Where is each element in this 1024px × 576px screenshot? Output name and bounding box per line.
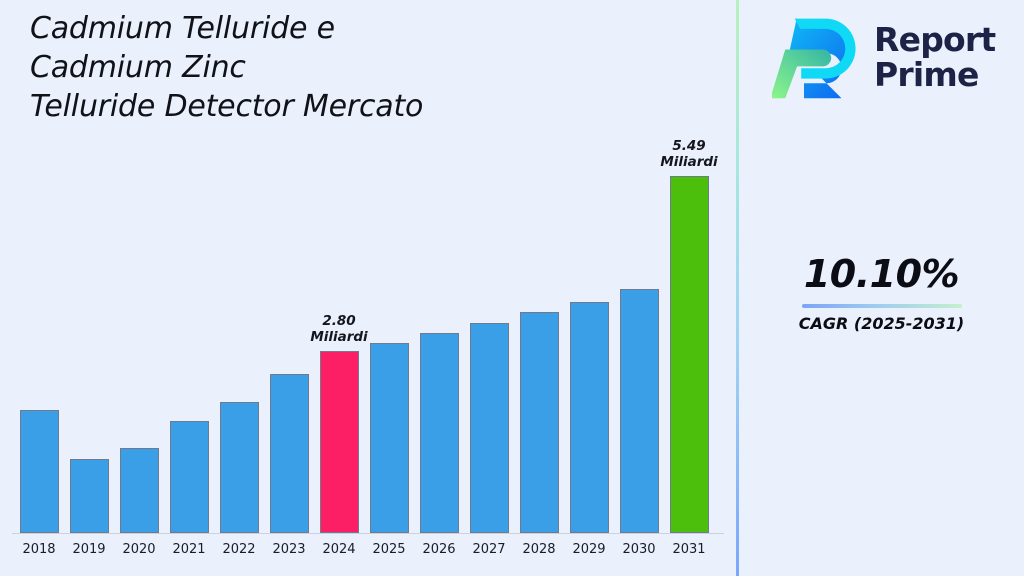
x-tick-2030: 2030 [614, 542, 664, 557]
page-title: Cadmium Telluride e Cadmium Zinc Telluri… [30, 9, 690, 126]
bar-2021[interactable] [164, 130, 214, 533]
x-axis-line [12, 533, 724, 534]
x-tick-2020: 2020 [114, 542, 164, 557]
bar-2030[interactable] [614, 130, 664, 533]
bar-2031[interactable]: 5.49 Miliardi [664, 130, 714, 533]
bar-chart-plot: 2.80 Miliardi5.49 Miliardi 2018201920202… [0, 130, 737, 576]
x-tick-2019: 2019 [64, 542, 114, 557]
report-prime-logo: Report Prime [772, 9, 1007, 104]
x-tick-2024: 2024 [314, 542, 364, 557]
bar-rect-2026[interactable] [420, 333, 459, 533]
bar-rect-2024[interactable] [320, 351, 359, 533]
bar-rect-2029[interactable] [570, 302, 609, 533]
bar-2023[interactable] [264, 130, 314, 533]
x-tick-2022: 2022 [214, 542, 264, 557]
x-tick-2028: 2028 [514, 542, 564, 557]
bar-rect-2023[interactable] [270, 374, 309, 533]
bar-rect-2019[interactable] [70, 459, 109, 533]
bar-2019[interactable] [64, 130, 114, 533]
x-tick-2025: 2025 [364, 542, 414, 557]
x-tick-2026: 2026 [414, 542, 464, 557]
bar-rect-2022[interactable] [220, 402, 259, 533]
bar-rect-2018[interactable] [20, 410, 59, 533]
brand-name: Report Prime [874, 22, 995, 92]
bar-2026[interactable] [414, 130, 464, 533]
brand-panel: Report Prime 10.10% CAGR (2025-2031) [739, 0, 1024, 576]
x-tick-2023: 2023 [264, 542, 314, 557]
bar-rect-2028[interactable] [520, 312, 559, 533]
bar-rect-2030[interactable] [620, 289, 659, 533]
x-tick-2027: 2027 [464, 542, 514, 557]
cagr-caption: CAGR (2025-2031) [739, 314, 1024, 334]
x-tick-2018: 2018 [14, 542, 64, 557]
bar-rect-2027[interactable] [470, 323, 509, 533]
bar-value-label-2031: 5.49 Miliardi [654, 138, 724, 170]
bar-2020[interactable] [114, 130, 164, 533]
bar-rect-2031[interactable] [670, 176, 709, 533]
report-prime-logo-icon [772, 12, 866, 102]
bar-2018[interactable] [14, 130, 64, 533]
bar-2024[interactable]: 2.80 Miliardi [314, 130, 364, 533]
infographic-root: Cadmium Telluride e Cadmium Zinc Telluri… [0, 0, 1024, 576]
bar-rect-2025[interactable] [370, 343, 409, 533]
cagr-block: 10.10% CAGR (2025-2031) [739, 252, 1024, 334]
bar-2027[interactable] [464, 130, 514, 533]
bar-2028[interactable] [514, 130, 564, 533]
bar-rect-2020[interactable] [120, 448, 159, 533]
chart-panel: Cadmium Telluride e Cadmium Zinc Telluri… [0, 0, 737, 576]
bar-2029[interactable] [564, 130, 614, 533]
x-tick-2031: 2031 [664, 542, 714, 557]
cagr-value: 10.10% [739, 252, 1024, 296]
cagr-divider-rule [802, 304, 962, 308]
bar-2025[interactable] [364, 130, 414, 533]
bar-rect-2021[interactable] [170, 421, 209, 533]
x-tick-2021: 2021 [164, 542, 214, 557]
x-tick-2029: 2029 [564, 542, 614, 557]
bar-2022[interactable] [214, 130, 264, 533]
